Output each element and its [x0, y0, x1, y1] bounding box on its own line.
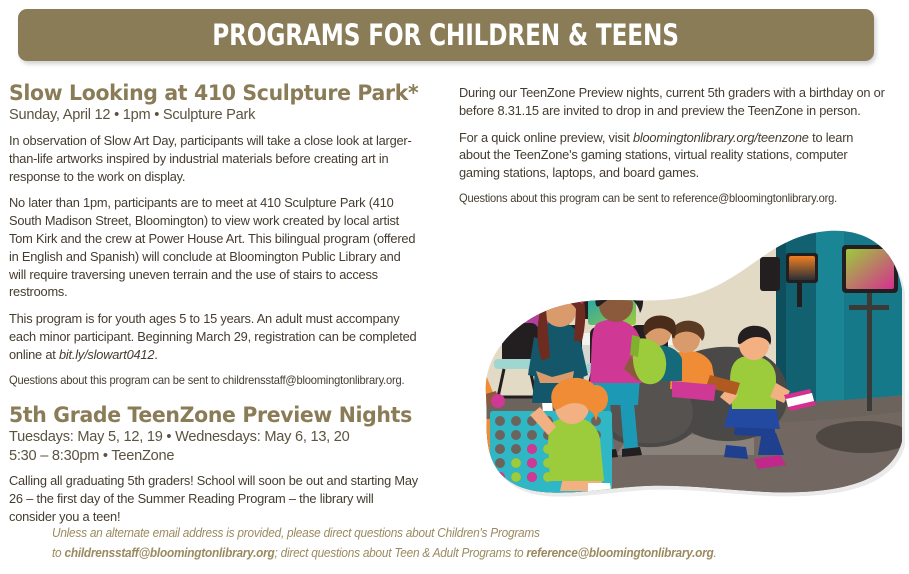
program-registration-paragraph: This program is for youth ages 5 to 15 y…	[9, 310, 418, 363]
footer-line-2-prefix: to	[52, 546, 64, 560]
program-paragraph: In observation of Slow Art Day, particip…	[9, 132, 418, 185]
right-paragraph: During our TeenZone Preview nights, curr…	[459, 84, 886, 120]
footer-line-1: Unless an alternate email address is pro…	[52, 526, 540, 540]
program-title-slow-looking: Slow Looking at 410 Sculpture Park*	[9, 82, 412, 105]
program-when-teenzone-line2: 5:30 – 8:30pm • TeenZone	[9, 447, 416, 466]
program-title-teenzone-preview: 5th Grade TeenZone Preview Nights	[9, 404, 412, 427]
right-questions-note: Questions about this program can be sent…	[459, 191, 883, 206]
section-banner: PROGRAMS FOR CHILDREN & TEENS	[18, 9, 874, 61]
program-paragraph: Calling all graduating 5th graders! Scho…	[9, 472, 418, 525]
footer-note: Unless an alternate email address is pro…	[52, 524, 819, 564]
program-paragraph: No later than 1pm, participants are to m…	[9, 194, 418, 301]
left-column: Slow Looking at 410 Sculpture Park* Sund…	[9, 82, 433, 535]
preview-prefix: For a quick online preview, visit	[459, 130, 633, 145]
right-column: During our TeenZone Preview nights, curr…	[459, 84, 901, 216]
teenzone-link[interactable]: bloomingtonlibrary.org/teenzone	[633, 130, 809, 145]
footer-email-childrens[interactable]: childrensstaff@bloomingtonlibrary.org	[64, 546, 274, 560]
program-questions-note: Questions about this program can be sent…	[9, 373, 416, 388]
registration-link[interactable]: bit.ly/slowart0412	[59, 347, 154, 362]
registration-suffix: .	[154, 347, 157, 362]
banner-title: PROGRAMS FOR CHILDREN & TEENS	[213, 21, 679, 50]
program-when-teenzone-line1: Tuesdays: May 5, 12, 19 • Wednesdays: Ma…	[9, 428, 416, 447]
footer-line-2-suffix: .	[714, 546, 717, 560]
footer-email-reference[interactable]: reference@bloomingtonlibrary.org	[526, 546, 713, 560]
program-when-slow-looking: Sunday, April 12 • 1pm • Sculpture Park	[9, 106, 416, 125]
flyer-page: PROGRAMS FOR CHILDREN & TEENS Slow Looki…	[0, 0, 909, 574]
teenzone-illustration	[424, 205, 909, 530]
footer-line-2-middle: ; direct questions about Teen & Adult Pr…	[275, 546, 527, 560]
right-preview-paragraph: For a quick online preview, visit bloomi…	[459, 129, 886, 182]
